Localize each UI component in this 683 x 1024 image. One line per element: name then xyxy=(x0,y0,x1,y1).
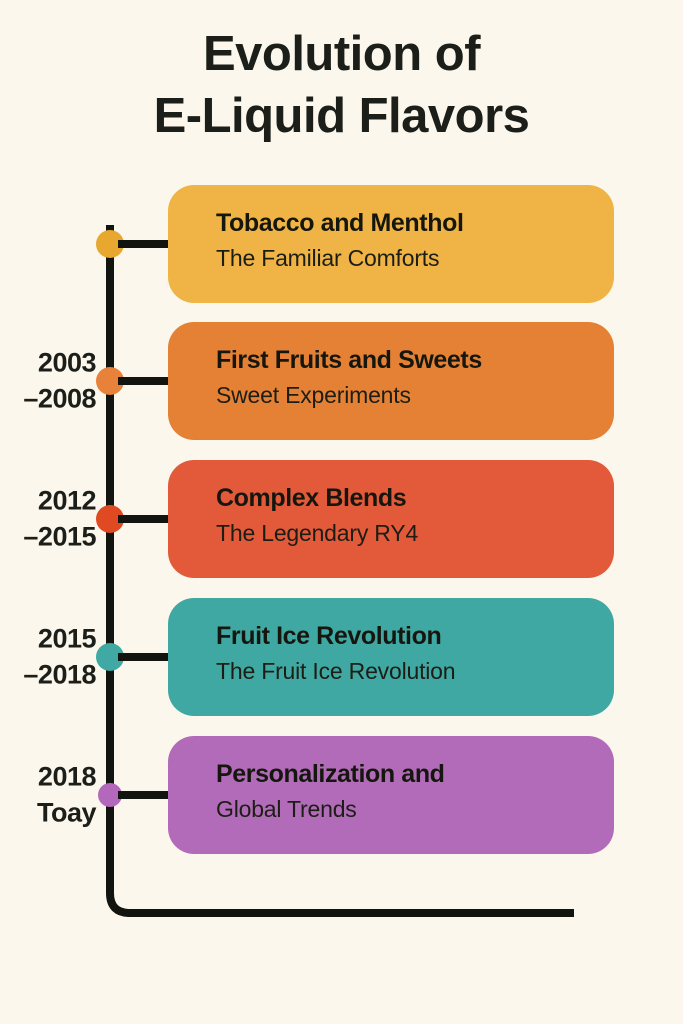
timeline-row[interactable]: 2018 Toay Personalization and Global Tre… xyxy=(0,736,683,854)
year-label: 2015 –2018 xyxy=(10,621,96,692)
year-range-start: 2012 xyxy=(10,483,96,519)
timeline-connector xyxy=(118,515,172,523)
timeline-row[interactable]: 2012 –2015 Complex Blends The Legendary … xyxy=(0,460,683,578)
card-subtitle: Sweet Experiments xyxy=(216,381,614,411)
card-title: Tobacco and Menthol xyxy=(216,207,614,240)
card-subtitle: Global Trends xyxy=(216,795,614,825)
timeline-card[interactable]: Tobacco and Menthol The Familiar Comfort… xyxy=(168,185,614,303)
timeline-card[interactable]: First Fruits and Sweets Sweet Experiment… xyxy=(168,322,614,440)
timeline-card[interactable]: Complex Blends The Legendary RY4 xyxy=(168,460,614,578)
card-subtitle: The Fruit Ice Revolution xyxy=(216,657,614,687)
card-title: Fruit Ice Revolution xyxy=(216,620,614,653)
timeline-connector xyxy=(118,377,172,385)
year-label: 2003 –2008 xyxy=(10,345,96,416)
timeline-connector xyxy=(118,240,172,248)
card-subtitle: The Familiar Comforts xyxy=(216,244,614,274)
card-title: Complex Blends xyxy=(216,482,614,515)
card-title: Personalization and xyxy=(216,758,614,791)
year-range-end: Toay xyxy=(10,795,96,831)
page-title: Evolution of E-Liquid Flavors xyxy=(0,24,683,147)
timeline-row[interactable]: Tobacco and Menthol The Familiar Comfort… xyxy=(0,185,683,303)
timeline-row[interactable]: 2003 –2008 First Fruits and Sweets Sweet… xyxy=(0,322,683,440)
year-range-start: 2003 xyxy=(10,345,96,381)
year-range-end: –2018 xyxy=(10,657,96,693)
year-range-end: –2008 xyxy=(10,381,96,417)
year-range-start: 2018 xyxy=(10,759,96,795)
timeline-connector xyxy=(118,791,172,799)
card-title: First Fruits and Sweets xyxy=(216,344,614,377)
title-line-1: Evolution of xyxy=(36,24,647,86)
timeline-card[interactable]: Fruit Ice Revolution The Fruit Ice Revol… xyxy=(168,598,614,716)
timeline-card[interactable]: Personalization and Global Trends xyxy=(168,736,614,854)
year-label: 2018 Toay xyxy=(10,759,96,830)
infographic-canvas: Evolution of E-Liquid Flavors Tobacco an… xyxy=(0,0,683,1024)
year-range-start: 2015 xyxy=(10,621,96,657)
year-range-end: –2015 xyxy=(10,519,96,555)
card-subtitle: The Legendary RY4 xyxy=(216,519,614,549)
title-line-2: E-Liquid Flavors xyxy=(36,86,647,148)
timeline-connector xyxy=(118,653,172,661)
timeline-row[interactable]: 2015 –2018 Fruit Ice Revolution The Frui… xyxy=(0,598,683,716)
year-label: 2012 –2015 xyxy=(10,483,96,554)
